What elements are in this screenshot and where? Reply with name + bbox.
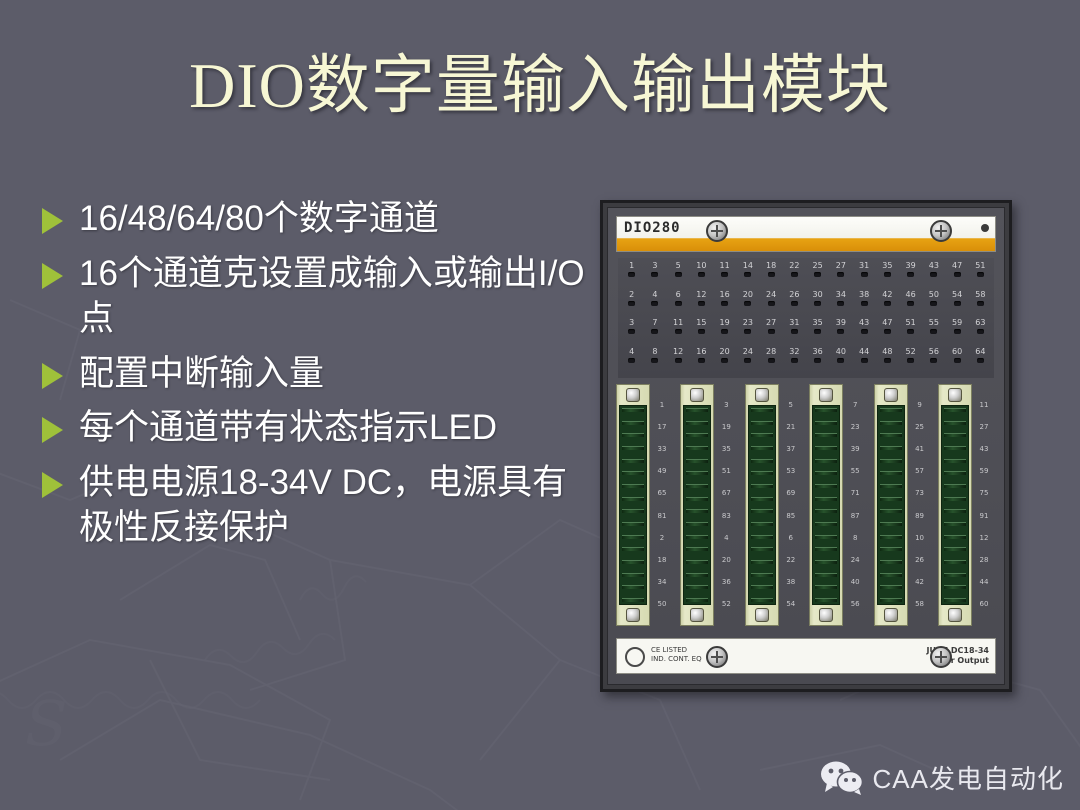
led-channel-number: 51 — [906, 318, 916, 328]
led-indicator — [930, 301, 937, 306]
terminal-pin — [622, 509, 644, 513]
led-indicator — [907, 301, 914, 306]
led-indicator — [721, 329, 728, 334]
led-channel-number: 16 — [720, 290, 730, 300]
terminal-number: 73 — [915, 489, 924, 498]
terminal-pin — [751, 459, 773, 463]
led-indicator — [698, 272, 705, 277]
terminal-pin — [751, 484, 773, 488]
led-cell: 51 — [970, 261, 990, 277]
terminal-pin — [686, 522, 708, 526]
led-cell: 31 — [784, 318, 804, 334]
led-cell: 35 — [808, 318, 828, 334]
led-channel-number: 44 — [859, 347, 869, 357]
led-status-matrix: 13510111418222527313539434751 2461216202… — [618, 258, 994, 378]
terminal-number: 3 — [724, 401, 728, 410]
led-indicator — [954, 329, 961, 334]
terminal-pin — [815, 547, 837, 551]
terminal-pin — [622, 598, 644, 602]
terminal-pin — [880, 598, 902, 602]
terminal-number: 6 — [789, 534, 793, 543]
led-channel-number: 35 — [813, 318, 823, 328]
terminal-screw-bottom — [755, 608, 769, 622]
terminal-number: 85 — [786, 512, 795, 521]
terminal-pin-strip — [748, 405, 776, 605]
terminal-pin — [751, 585, 773, 589]
led-channel-number: 27 — [836, 261, 846, 271]
terminal-pin — [686, 509, 708, 513]
led-cell: 26 — [784, 290, 804, 306]
terminal-pin — [686, 598, 708, 602]
terminal-number: 67 — [722, 489, 731, 498]
terminal-pin — [815, 522, 837, 526]
terminal-number: 22 — [786, 556, 795, 565]
module-bottom-left-text: CE LISTED IND. CONT. EQ — [651, 646, 702, 664]
led-channel-number: 26 — [789, 290, 799, 300]
led-cell: 8 — [645, 347, 665, 363]
led-indicator — [884, 272, 891, 277]
terminal-pin — [815, 433, 837, 437]
terminal-pin — [751, 497, 773, 501]
led-indicator — [675, 329, 682, 334]
faceplate-screw-top-left — [706, 220, 728, 242]
led-cell: 60 — [947, 347, 967, 363]
terminal-pin — [622, 560, 644, 564]
terminal-connector-group: 9254157738910264258 — [874, 384, 932, 626]
led-cell: 24 — [761, 290, 781, 306]
page-title: DIO数字量输入输出模块 — [0, 52, 1080, 119]
led-indicator — [744, 329, 751, 334]
terminal-pin — [944, 433, 966, 437]
led-channel-number: 35 — [882, 261, 892, 271]
led-cell: 38 — [854, 290, 874, 306]
led-channel-number: 30 — [813, 290, 823, 300]
led-cell: 19 — [715, 318, 735, 334]
terminal-screw-top — [884, 388, 898, 402]
led-channel-number: 56 — [929, 347, 939, 357]
terminal-number: 20 — [722, 556, 731, 565]
terminal-number: 5 — [789, 401, 793, 410]
led-cell: 12 — [668, 347, 688, 363]
terminal-pin — [880, 573, 902, 577]
terminal-number: 50 — [658, 600, 667, 609]
led-indicator — [930, 272, 937, 277]
bullet-text: 16/48/64/80个数字通道 — [79, 196, 587, 242]
terminal-block — [745, 384, 779, 626]
terminal-number-column: 319355167834203652 — [714, 384, 738, 626]
led-indicator — [861, 358, 868, 363]
bullet-text: 16个通道克设置成输入或输出I/O点 — [79, 251, 587, 342]
led-channel-number: 31 — [859, 261, 869, 271]
led-channel-number: 42 — [882, 290, 892, 300]
led-row: 481216202428323640444852566064 — [620, 347, 992, 375]
led-indicator — [814, 301, 821, 306]
led-indicator — [954, 272, 961, 277]
led-indicator — [768, 272, 775, 277]
led-channel-number: 55 — [929, 318, 939, 328]
module-faceplate: DIO280 13510111418222527313539434751 246… — [607, 207, 1005, 685]
led-cell: 54 — [947, 290, 967, 306]
led-cell: 4 — [622, 347, 642, 363]
led-cell: 48 — [877, 347, 897, 363]
led-indicator — [954, 301, 961, 306]
terminal-pin — [944, 573, 966, 577]
terminal-number: 12 — [979, 534, 988, 543]
terminal-pin — [686, 573, 708, 577]
faceplate-screw-top-right — [930, 220, 952, 242]
led-channel-number: 59 — [952, 318, 962, 328]
led-cell: 43 — [924, 261, 944, 277]
led-channel-number: 25 — [813, 261, 823, 271]
led-channel-number: 40 — [836, 347, 846, 357]
terminal-pin — [751, 573, 773, 577]
list-item: 16个通道克设置成输入或输出I/O点 — [42, 251, 587, 342]
led-indicator — [907, 272, 914, 277]
faceplate-screw-bottom-right — [930, 646, 952, 668]
terminal-pin — [880, 585, 902, 589]
led-channel-number: 24 — [743, 347, 753, 357]
led-cell: 16 — [715, 290, 735, 306]
led-indicator — [768, 358, 775, 363]
led-channel-number: 48 — [882, 347, 892, 357]
led-cell: 22 — [784, 261, 804, 277]
terminal-number: 8 — [853, 534, 857, 543]
led-cell: 59 — [947, 318, 967, 334]
terminal-number: 23 — [851, 423, 860, 432]
terminal-number-column: 9254157738910264258 — [908, 384, 932, 626]
terminal-pin — [622, 573, 644, 577]
terminal-number: 81 — [658, 512, 667, 521]
terminal-pin — [815, 509, 837, 513]
led-cell: 34 — [831, 290, 851, 306]
terminal-pin — [622, 484, 644, 488]
led-channel-number: 15 — [696, 318, 706, 328]
terminal-pin — [622, 547, 644, 551]
list-item: 供电电源18-34V DC，电源具有极性反接保护 — [42, 460, 587, 551]
terminal-pin — [815, 598, 837, 602]
terminal-number: 75 — [979, 489, 988, 498]
terminal-number: 26 — [915, 556, 924, 565]
terminal-connector-area: 1173349658121834503193551678342036525213… — [616, 384, 996, 626]
terminal-number: 57 — [915, 467, 924, 476]
led-cell: 31 — [854, 261, 874, 277]
led-channel-number: 4 — [629, 347, 634, 357]
led-cell: 40 — [831, 347, 851, 363]
terminal-number: 40 — [851, 578, 860, 587]
led-indicator — [930, 358, 937, 363]
terminal-pin — [944, 560, 966, 564]
triangle-bullet-icon — [42, 363, 63, 389]
terminal-pin — [686, 408, 708, 412]
led-indicator — [907, 329, 914, 334]
led-cell: 28 — [761, 347, 781, 363]
triangle-bullet-icon — [42, 208, 63, 234]
led-cell: 39 — [831, 318, 851, 334]
led-cell: 47 — [877, 318, 897, 334]
bullet-text: 每个通道带有状态指示LED — [79, 405, 587, 451]
led-channel-number: 7 — [652, 318, 657, 328]
led-indicator — [721, 301, 728, 306]
led-cell: 15 — [691, 318, 711, 334]
terminal-pin — [686, 484, 708, 488]
led-indicator — [861, 329, 868, 334]
svg-text:S: S — [25, 687, 67, 760]
terminal-number: 44 — [979, 578, 988, 587]
led-indicator — [651, 358, 658, 363]
terminal-pin — [944, 446, 966, 450]
led-channel-number: 36 — [813, 347, 823, 357]
bullet-text: 配置中断输入量 — [79, 351, 587, 397]
led-indicator — [954, 358, 961, 363]
terminal-screw-top — [948, 388, 962, 402]
led-channel-number: 2 — [629, 290, 634, 300]
wechat-icon — [820, 761, 864, 795]
led-cell: 4 — [645, 290, 665, 306]
terminal-pin — [622, 535, 644, 539]
terminal-pin — [880, 522, 902, 526]
terminal-pin — [815, 408, 837, 412]
led-indicator — [791, 301, 798, 306]
certification-logo-icon — [625, 647, 645, 667]
led-channel-number: 12 — [696, 290, 706, 300]
terminal-number: 59 — [979, 467, 988, 476]
led-channel-number: 12 — [673, 347, 683, 357]
led-cell: 24 — [738, 347, 758, 363]
led-channel-number: 11 — [673, 318, 683, 328]
terminal-pin — [686, 497, 708, 501]
led-indicator — [651, 329, 658, 334]
led-channel-number: 3 — [652, 261, 657, 271]
led-channel-number: 34 — [836, 290, 846, 300]
terminal-number: 2 — [660, 534, 664, 543]
led-cell: 55 — [924, 318, 944, 334]
led-channel-number: 54 — [952, 290, 962, 300]
led-cell: 18 — [761, 261, 781, 277]
terminal-screw-top — [755, 388, 769, 402]
led-channel-number: 14 — [743, 261, 753, 271]
terminal-pin — [751, 433, 773, 437]
terminal-pin — [944, 547, 966, 551]
led-channel-number: 58 — [975, 290, 985, 300]
led-cell: 32 — [784, 347, 804, 363]
led-cell: 64 — [970, 347, 990, 363]
terminal-pin — [751, 421, 773, 425]
terminal-number: 91 — [979, 512, 988, 521]
terminal-pin — [880, 459, 902, 463]
terminal-pin — [944, 598, 966, 602]
led-channel-number: 38 — [859, 290, 869, 300]
led-indicator — [837, 301, 844, 306]
terminal-connector-group: 723395571878244056 — [809, 384, 867, 626]
led-indicator — [744, 358, 751, 363]
terminal-block — [938, 384, 972, 626]
terminal-number: 37 — [786, 445, 795, 454]
led-indicator — [744, 301, 751, 306]
terminal-number: 39 — [851, 445, 860, 454]
led-indicator — [721, 272, 728, 277]
led-channel-number: 51 — [975, 261, 985, 271]
bullet-text: 供电电源18-34V DC，电源具有极性反接保护 — [79, 460, 587, 551]
terminal-screw-bottom — [819, 608, 833, 622]
terminal-number: 34 — [658, 578, 667, 587]
led-channel-number: 22 — [789, 261, 799, 271]
terminal-pin — [880, 484, 902, 488]
terminal-number: 10 — [915, 534, 924, 543]
dio-module-photo: DIO280 13510111418222527313539434751 246… — [600, 200, 1012, 692]
terminal-connector-group: 319355167834203652 — [680, 384, 738, 626]
terminal-screw-bottom — [626, 608, 640, 622]
led-channel-number: 20 — [720, 347, 730, 357]
led-cell: 3 — [622, 318, 642, 334]
terminal-pin — [686, 585, 708, 589]
terminal-number: 35 — [722, 445, 731, 454]
terminal-pin — [751, 408, 773, 412]
led-channel-number: 47 — [952, 261, 962, 271]
terminal-pin — [686, 547, 708, 551]
terminal-pin — [751, 547, 773, 551]
led-indicator — [814, 272, 821, 277]
terminal-number: 18 — [658, 556, 667, 565]
terminal-connector-group: 11274359759112284460 — [938, 384, 996, 626]
led-cell: 30 — [808, 290, 828, 306]
led-cell: 47 — [947, 261, 967, 277]
led-indicator — [698, 301, 705, 306]
led-indicator — [768, 329, 775, 334]
triangle-bullet-icon — [42, 417, 63, 443]
led-indicator — [675, 358, 682, 363]
terminal-pin — [815, 535, 837, 539]
terminal-pin — [622, 585, 644, 589]
faceplate-screw-bottom-left — [706, 646, 728, 668]
led-cell: 46 — [901, 290, 921, 306]
terminal-pin — [880, 535, 902, 539]
led-channel-number: 63 — [975, 318, 985, 328]
terminal-pin — [944, 471, 966, 475]
terminal-number: 52 — [722, 600, 731, 609]
terminal-number: 38 — [786, 578, 795, 587]
led-cell: 50 — [924, 290, 944, 306]
terminal-number: 58 — [915, 600, 924, 609]
led-row: 24612162024263034384246505458 — [620, 290, 992, 318]
terminal-block — [874, 384, 908, 626]
led-cell: 16 — [691, 347, 711, 363]
led-indicator — [628, 358, 635, 363]
led-indicator — [977, 272, 984, 277]
terminal-pin — [880, 408, 902, 412]
led-indicator — [675, 272, 682, 277]
led-cell: 42 — [877, 290, 897, 306]
led-indicator — [977, 329, 984, 334]
terminal-pin — [815, 459, 837, 463]
led-indicator — [791, 329, 798, 334]
led-channel-number: 20 — [743, 290, 753, 300]
led-channel-number: 19 — [720, 318, 730, 328]
triangle-bullet-icon — [42, 263, 63, 289]
led-channel-number: 6 — [676, 290, 681, 300]
terminal-block — [616, 384, 650, 626]
led-cell: 36 — [808, 347, 828, 363]
terminal-pin — [751, 471, 773, 475]
terminal-pin — [622, 408, 644, 412]
terminal-number: 83 — [722, 512, 731, 521]
terminal-screw-bottom — [948, 608, 962, 622]
led-channel-number: 24 — [766, 290, 776, 300]
terminal-number: 69 — [786, 489, 795, 498]
terminal-pin — [815, 560, 837, 564]
led-channel-number: 11 — [720, 261, 730, 271]
terminal-screw-top — [626, 388, 640, 402]
led-cell: 58 — [970, 290, 990, 306]
terminal-number: 7 — [853, 401, 857, 410]
terminal-number: 42 — [915, 578, 924, 587]
led-indicator — [628, 329, 635, 334]
led-channel-number: 31 — [789, 318, 799, 328]
led-indicator — [675, 301, 682, 306]
led-indicator — [791, 358, 798, 363]
led-indicator — [651, 301, 658, 306]
led-channel-number: 46 — [906, 290, 916, 300]
terminal-number: 89 — [915, 512, 924, 521]
terminal-pin — [751, 509, 773, 513]
led-channel-number: 50 — [929, 290, 939, 300]
led-channel-number: 16 — [696, 347, 706, 357]
terminal-number: 11 — [979, 401, 988, 410]
led-indicator — [884, 301, 891, 306]
led-indicator — [861, 301, 868, 306]
terminal-number-column: 521375369856223854 — [779, 384, 803, 626]
led-indicator — [837, 272, 844, 277]
list-item: 16/48/64/80个数字通道 — [42, 196, 587, 242]
led-row: 13510111418222527313539434751 — [620, 261, 992, 289]
led-indicator — [768, 301, 775, 306]
terminal-pin — [944, 421, 966, 425]
wechat-watermark: CAA发电自动化 — [820, 759, 1064, 796]
terminal-pin — [880, 433, 902, 437]
terminal-pin — [880, 446, 902, 450]
slide-root: S DIO数字量输入输出模块 16/48/64/80个数字通道 16个通道克设置… — [0, 0, 1080, 810]
led-row: 371115192327313539434751555963 — [620, 318, 992, 346]
terminal-pin — [622, 433, 644, 437]
terminal-pin — [815, 484, 837, 488]
terminal-pin — [622, 497, 644, 501]
led-cell: 35 — [877, 261, 897, 277]
led-cell: 43 — [854, 318, 874, 334]
led-indicator — [628, 301, 635, 306]
led-channel-number: 39 — [906, 261, 916, 271]
led-cell: 3 — [645, 261, 665, 277]
terminal-pin — [622, 421, 644, 425]
terminal-pin — [880, 547, 902, 551]
led-indicator — [977, 301, 984, 306]
led-cell: 2 — [622, 290, 642, 306]
terminal-pin — [944, 484, 966, 488]
led-channel-number: 3 — [629, 318, 634, 328]
terminal-pin — [880, 421, 902, 425]
led-indicator — [814, 329, 821, 334]
led-cell: 52 — [901, 347, 921, 363]
terminal-number-column: 117334965812183450 — [650, 384, 674, 626]
led-cell: 1 — [622, 261, 642, 277]
module-indicator-dot — [981, 224, 989, 232]
terminal-pin — [622, 459, 644, 463]
terminal-number: 51 — [722, 467, 731, 476]
led-channel-number: 28 — [766, 347, 776, 357]
led-indicator — [977, 358, 984, 363]
terminal-pin-strip — [619, 405, 647, 605]
terminal-pin — [944, 585, 966, 589]
led-indicator — [884, 358, 891, 363]
terminal-number: 43 — [979, 445, 988, 454]
